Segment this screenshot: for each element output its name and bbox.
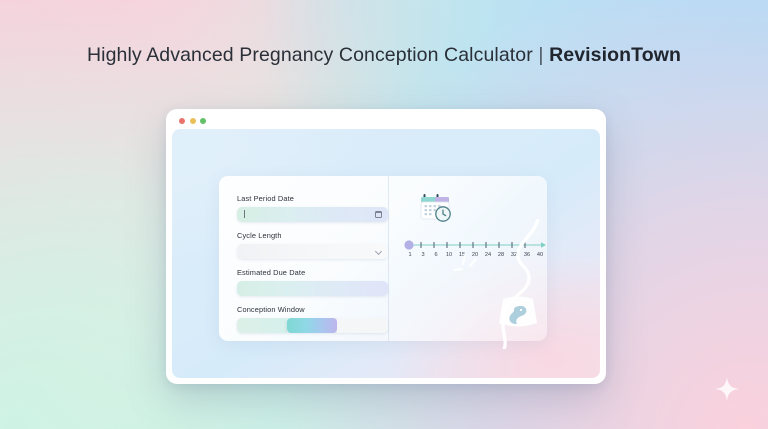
calculator-card: Last Period Date Cycle Length Estimated …	[219, 176, 547, 341]
field-cycle-length: Cycle Length	[237, 231, 388, 259]
cycle-length-label: Cycle Length	[237, 231, 388, 240]
cycle-length-select[interactable]	[237, 244, 388, 260]
text-cursor	[244, 210, 245, 218]
estimated-due-date-output	[237, 281, 388, 297]
timeline-handle	[404, 240, 413, 249]
estimated-due-date-label: Estimated Due Date	[237, 268, 388, 277]
window-titlebar	[170, 113, 602, 128]
last-period-date-label: Last Period Date	[237, 194, 388, 203]
last-period-date-input[interactable]	[237, 207, 388, 223]
sparkle-icon	[715, 377, 739, 401]
field-estimated-due-date: Estimated Due Date	[237, 268, 388, 296]
conception-window-bar[interactable]	[237, 318, 388, 334]
ultrasound-scan-icon	[495, 293, 541, 333]
chevron-down-icon	[375, 248, 382, 255]
browser-window: Last Period Date Cycle Length Estimated …	[166, 109, 606, 384]
timeline-tick-1: 1	[406, 252, 414, 258]
conception-window-range[interactable]	[287, 318, 338, 334]
maximize-button-icon[interactable]	[200, 118, 206, 124]
conception-window-label: Conception Window	[237, 305, 388, 314]
field-last-period-date: Last Period Date	[237, 194, 388, 222]
minimize-button-icon[interactable]	[190, 118, 196, 124]
page-title-brand: RevisionTown	[549, 44, 681, 66]
illustration-panel: 1 3 6 10 15 20 24 28 32 36 40	[389, 176, 547, 341]
page-title: Highly Advanced Pregnancy Conception Cal…	[0, 44, 768, 67]
sparkle-icon	[451, 253, 481, 283]
conception-window-track-start	[237, 318, 287, 334]
window-viewport: Last Period Date Cycle Length Estimated …	[172, 129, 600, 378]
calendar-icon[interactable]	[375, 211, 383, 219]
timeline-tick-3: 3	[419, 252, 427, 258]
form-panel: Last Period Date Cycle Length Estimated …	[219, 176, 389, 341]
page-title-separator: |	[538, 44, 543, 66]
close-button-icon[interactable]	[179, 118, 185, 124]
conception-window-track-end	[337, 318, 388, 334]
page-title-main: Highly Advanced Pregnancy Conception Cal…	[87, 44, 533, 66]
field-conception-window: Conception Window	[237, 305, 388, 333]
traffic-lights	[179, 113, 602, 128]
